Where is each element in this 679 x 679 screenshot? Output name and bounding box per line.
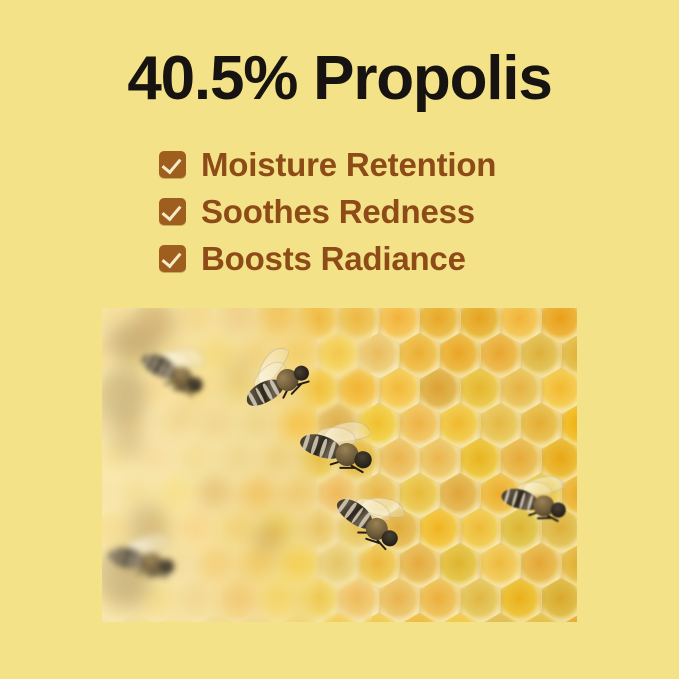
benefit-label: Boosts Radiance	[201, 242, 466, 276]
checkmark-glyph	[162, 248, 182, 269]
checkmark-glyph	[162, 201, 182, 222]
honeycomb-bees-photo	[102, 308, 577, 622]
checkbox-checked-icon	[159, 151, 186, 178]
benefits-list: Moisture Retention Soothes Redness Boost…	[159, 141, 579, 282]
checkbox-checked-icon	[159, 198, 186, 225]
benefit-label: Soothes Redness	[201, 195, 475, 229]
page-title: 40.5% Propolis	[0, 46, 679, 112]
list-item: Moisture Retention	[159, 141, 579, 188]
list-item: Soothes Redness	[159, 188, 579, 235]
benefit-label: Moisture Retention	[201, 148, 496, 182]
list-item: Boosts Radiance	[159, 235, 579, 282]
product-benefit-card: 40.5% Propolis Moisture Retention Soothe…	[0, 0, 679, 679]
checkbox-checked-icon	[159, 245, 186, 272]
checkmark-glyph	[162, 154, 182, 175]
